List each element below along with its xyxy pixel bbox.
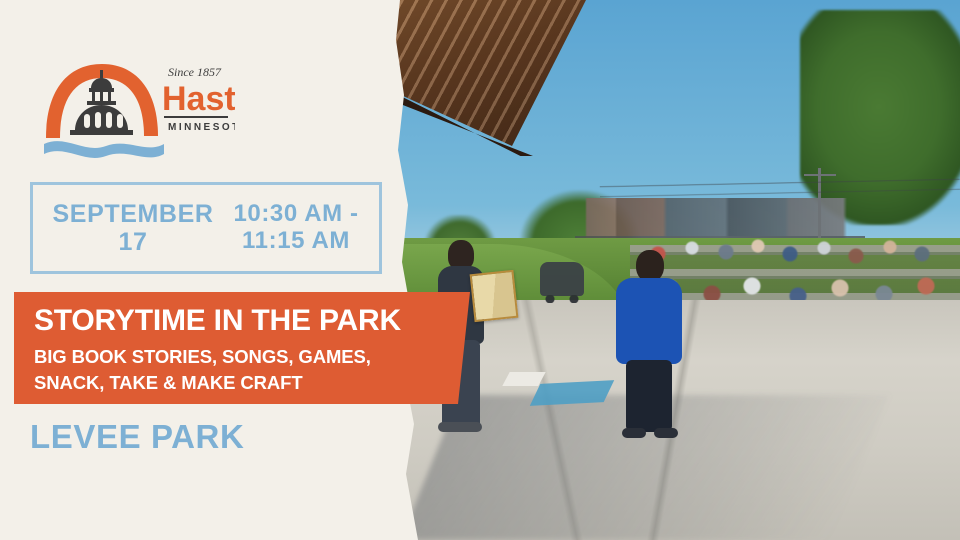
presenter-legs [626,360,672,432]
big-book-icon [470,270,519,322]
presenter-in-blue-shirt [612,250,686,446]
logo-wordmark: Hastings [162,80,235,118]
canopy-beams [388,0,588,146]
event-title: STORYTIME IN THE PARK [34,304,401,338]
event-description: BIG BOOK STORIES, SONGS, GAMES, SNACK, T… [34,344,439,397]
logo-since: Since 1857 [168,65,222,79]
event-location: LEVEE PARK [30,418,244,456]
presenter-shoe-left [622,428,646,438]
logo-river-icon [44,141,164,158]
hastings-minnesota-logo: Since 1857 Hastings MINNESOTA [40,50,235,165]
event-time: 10:30 AM - 11:15 AM [223,201,369,255]
presenter-shoes [438,422,482,432]
logo-state: MINNESOTA [168,122,235,133]
event-date: SEPTEMBER 17 [43,200,223,256]
presenter-torso [616,278,682,364]
presenter-shoe-right [654,428,678,438]
stroller [540,262,584,296]
date-time-box: SEPTEMBER 17 10:30 AM - 11:15 AM [30,182,382,274]
power-lines [600,172,960,220]
blue-mat [530,380,614,406]
poster-canvas: Since 1857 Hastings MINNESOTA SEPTEMBER … [0,0,960,540]
